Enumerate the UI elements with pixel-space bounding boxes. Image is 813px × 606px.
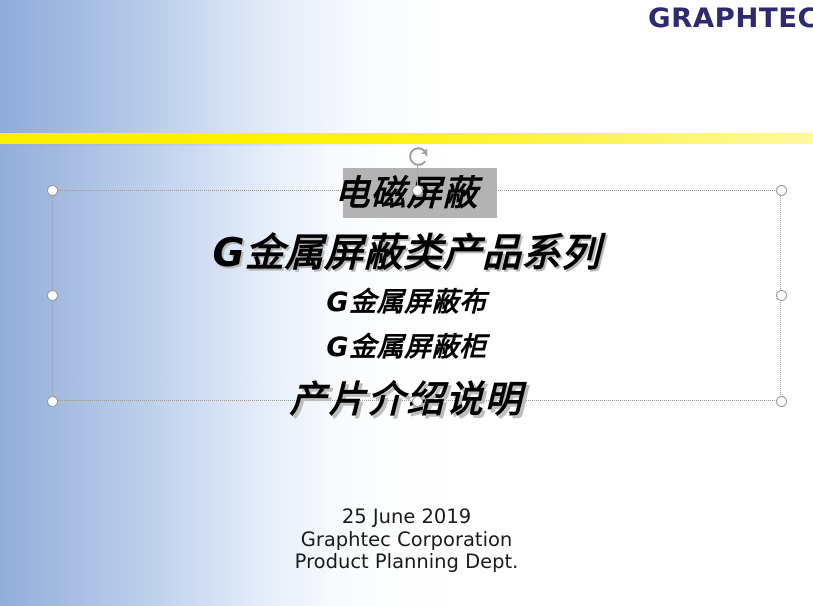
subtitle-line-2[interactable]: G金属屏蔽柜 (0, 331, 813, 365)
resize-handle-top-center[interactable] (412, 185, 423, 196)
resize-handle-top-right[interactable] (776, 185, 787, 196)
footer-date: 25 June 2019 (0, 506, 813, 529)
graphtec-logo: GRAPHTEC (648, 5, 813, 32)
resize-handle-bottom-center[interactable] (412, 396, 423, 407)
footer-company: Graphtec Corporation (0, 529, 813, 552)
footer-department: Product Planning Dept. (0, 551, 813, 574)
resize-handle-middle-right[interactable] (776, 290, 787, 301)
resize-handle-top-left[interactable] (47, 185, 58, 196)
resize-handle-middle-left[interactable] (47, 290, 58, 301)
resize-handle-bottom-right[interactable] (776, 396, 787, 407)
description-line[interactable]: 产片介绍说明 (0, 378, 813, 422)
subtitle-line-1[interactable]: G金属屏蔽布 (0, 286, 813, 320)
resize-handle-bottom-left[interactable] (47, 396, 58, 407)
highlighted-heading[interactable]: 电磁屏蔽 (0, 174, 813, 214)
presentation-slide: GRAPHTEC 电磁屏蔽 G金属屏蔽类产品系列 G金属屏蔽布 G金属屏蔽柜 产… (0, 0, 813, 606)
slide-footer: 25 June 2019 Graphtec Corporation Produc… (0, 506, 813, 574)
rotate-icon[interactable] (405, 143, 433, 171)
main-title[interactable]: G金属屏蔽类产品系列 (0, 231, 813, 277)
